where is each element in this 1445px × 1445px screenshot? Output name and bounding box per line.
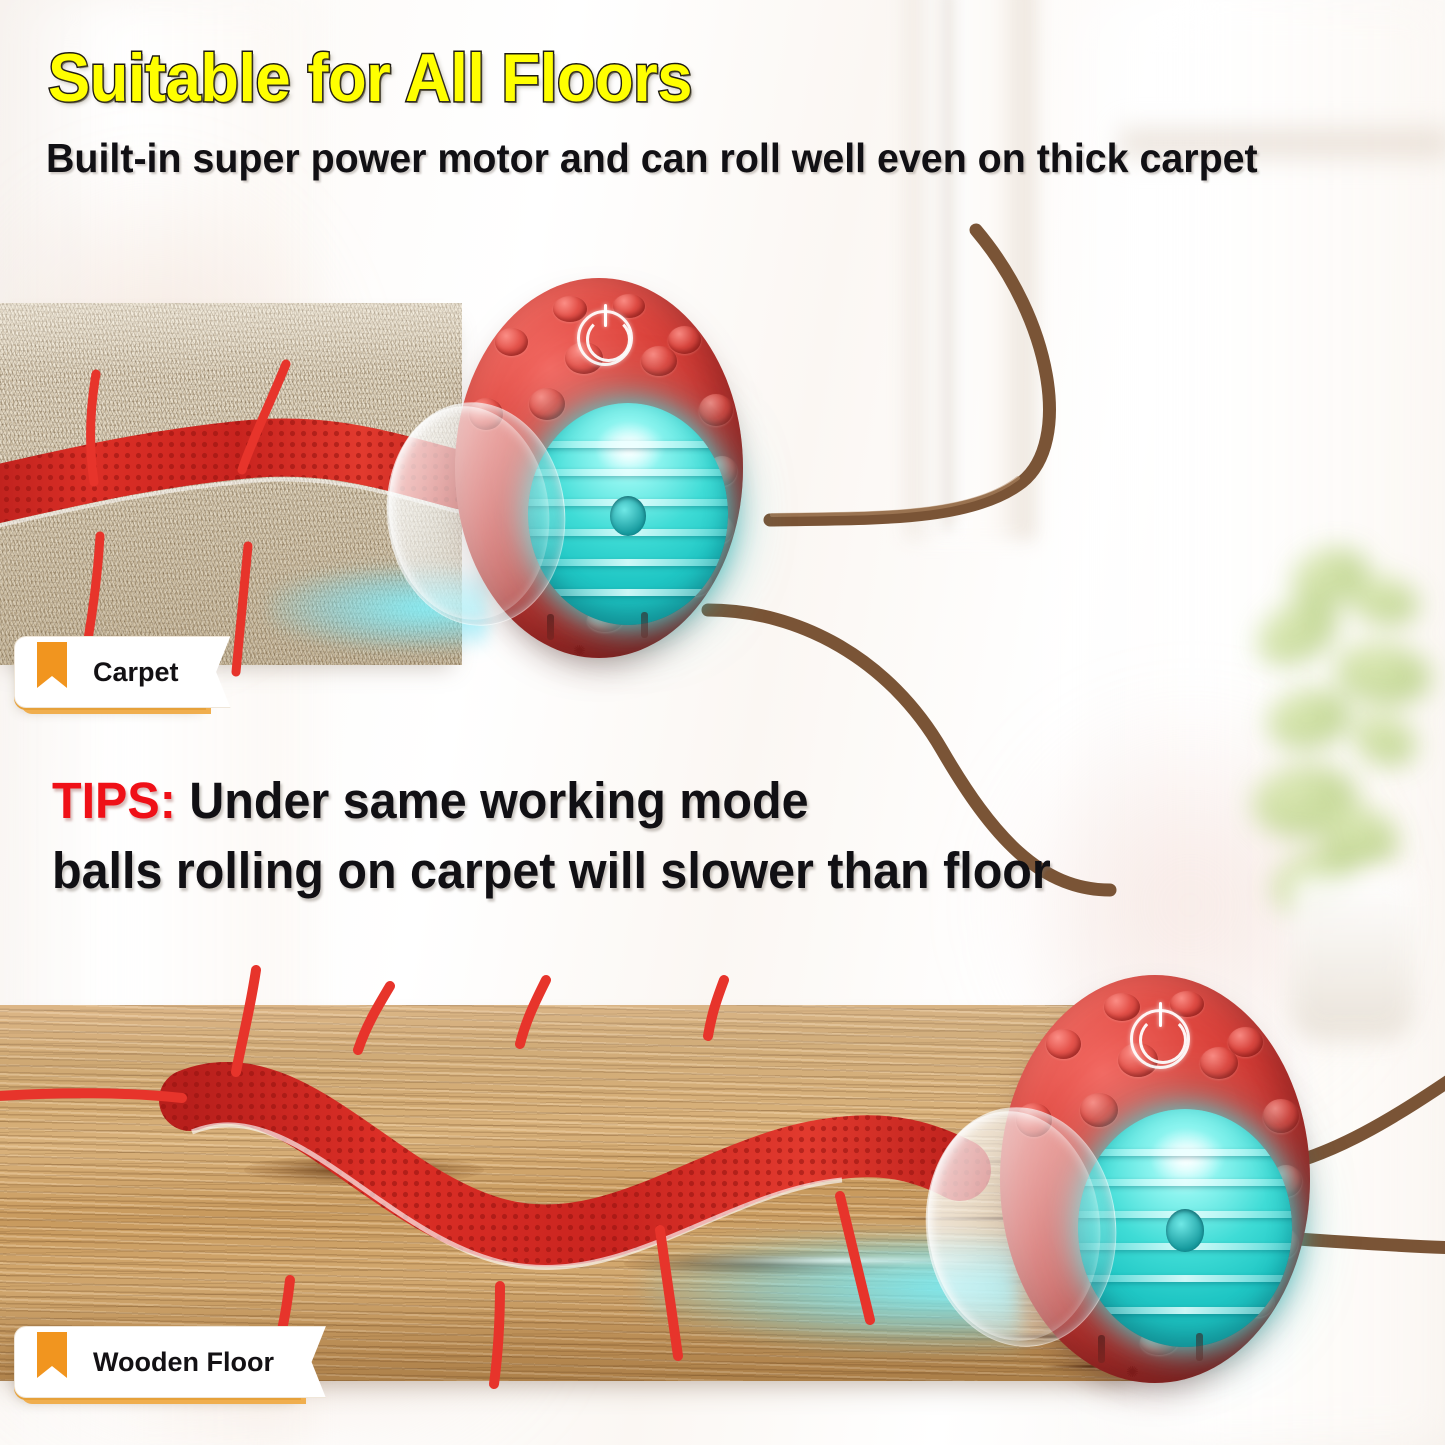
tips-keyword: TIPS: xyxy=(52,772,176,829)
power-icon[interactable] xyxy=(577,310,633,366)
ball-dimple xyxy=(699,394,733,426)
ball-dimple xyxy=(529,388,565,420)
ball-logo: ✺ xyxy=(1126,1363,1140,1381)
ball-dimple xyxy=(668,326,701,354)
ball-dimple xyxy=(1263,1099,1299,1133)
carpet-yarn-strings xyxy=(82,364,286,672)
tips-line-1: Under same working mode xyxy=(176,772,809,829)
ball-dimple xyxy=(495,328,528,356)
product-ball-carpet: ✺ xyxy=(455,278,743,668)
label-carpet: Carpet xyxy=(14,636,206,708)
ball-dimple xyxy=(553,296,587,322)
product-ball-wood: ✺ xyxy=(1000,975,1310,1395)
power-icon[interactable] xyxy=(1130,1009,1190,1069)
tips-text: TIPS: Under same working mode balls roll… xyxy=(52,770,1240,902)
ball-dimple xyxy=(1104,993,1140,1021)
page-title: Suitable for All Floors xyxy=(48,44,692,112)
bookmark-icon xyxy=(37,642,67,688)
tips-line-2: balls rolling on carpet will slower than… xyxy=(52,840,1240,902)
led-hub xyxy=(1166,1209,1205,1252)
product-marketing-image: Carpet xyxy=(0,0,1445,1445)
led-hub xyxy=(610,496,646,536)
ball-dimple xyxy=(1046,1029,1081,1059)
ball-vent xyxy=(641,612,648,638)
ball-logo: ✺ xyxy=(573,642,587,660)
label-wooden-floor-text: Wooden Floor xyxy=(93,1347,274,1378)
bookmark-icon xyxy=(37,1332,67,1378)
page-subtitle: Built-in super power motor and can roll … xyxy=(46,138,1258,179)
ball-dimple xyxy=(1200,1047,1238,1079)
label-carpet-text: Carpet xyxy=(93,657,179,688)
ball-vent xyxy=(1196,1333,1203,1361)
led-highlight xyxy=(1151,1130,1224,1182)
ball-dimple xyxy=(1080,1093,1118,1127)
label-wooden-floor: Wooden Floor xyxy=(14,1326,301,1398)
ball-vent xyxy=(547,614,554,640)
ball-dimple xyxy=(641,346,677,376)
ball-vent xyxy=(1098,1335,1105,1363)
